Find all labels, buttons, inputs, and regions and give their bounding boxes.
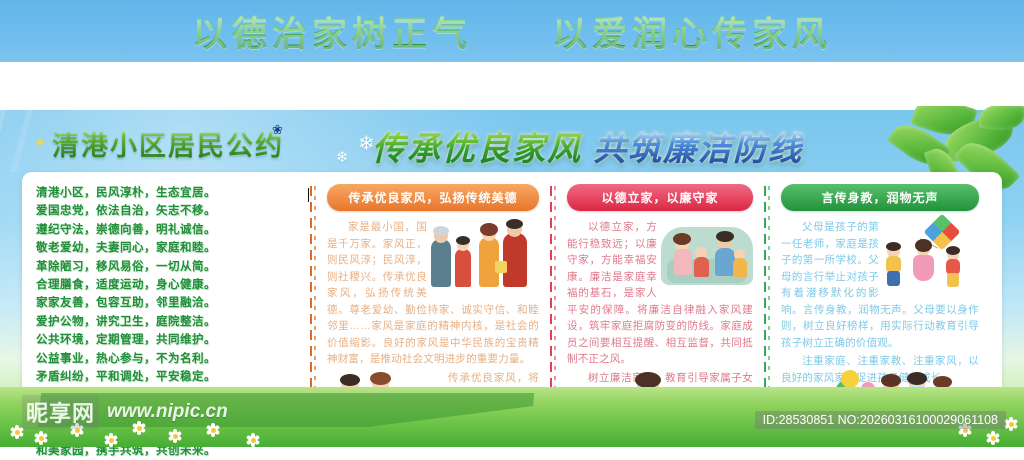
father-figure	[503, 233, 527, 287]
watermark-logo: 昵享网	[22, 395, 99, 429]
daisy-icon	[1004, 417, 1018, 431]
second-child-body	[733, 258, 747, 277]
kite-flying-illustration	[883, 219, 979, 289]
pact-column: 清港小区，民风淳朴，生态宜居。 爱国忠党，依法自治，矢志不移。 遵纪守法，崇德向…	[22, 172, 308, 420]
boy-hair	[886, 242, 901, 251]
family-sofa-illustration	[661, 219, 753, 287]
child-body	[694, 257, 709, 277]
column-divider	[549, 186, 557, 410]
pact-line: 家家友善，包容互助，邻里融洽。	[36, 294, 300, 312]
column-heading-virtue-integrity: 以德立家，以廉守家	[567, 184, 753, 211]
column-family-virtue: 传承优良家风，弘扬传统美德	[317, 172, 549, 420]
leaf-icon	[979, 106, 1024, 132]
pact-line: 矛盾纠纷，平和调处，平安稳定。	[36, 368, 300, 386]
pact-line: 爱国忠党，依法自治，矢志不移。	[36, 202, 300, 220]
column-divider	[309, 186, 317, 410]
mother-body	[674, 249, 692, 275]
boy-legs	[887, 271, 900, 286]
column-heading-family-virtue: 传承优良家风，弘扬传统美德	[327, 184, 539, 211]
pact-line: 公益事业，热心参与，不为名利。	[36, 350, 300, 368]
pact-line: 爱护公物，讲究卫生，庭院整洁。	[36, 313, 300, 331]
column-divider	[763, 186, 771, 410]
grandmother-hair	[433, 226, 449, 236]
daisy-icon	[34, 431, 48, 445]
asset-id-badge: ID:28530851 NO:20260316100029061108	[755, 411, 1006, 429]
mother-sitting-hair	[370, 372, 391, 385]
page-title-main-green: 传承优良家风	[372, 130, 593, 167]
poster-board: 以德治家树正气 以爱润心传家风 ❄ ❄ ✦ 清港小区居民公约 ❀ 传承优良家风 …	[0, 0, 1024, 447]
pact-line: 革除陋习，移风易俗，一切从简。	[36, 258, 300, 276]
family-walking-illustration	[431, 219, 539, 291]
flower-icon	[841, 370, 859, 388]
father-body	[715, 248, 735, 276]
butterfly-icon: ❀	[272, 122, 283, 138]
second-boy-legs	[947, 273, 959, 287]
pact-line: 合理膳食，适度运动，身心健康。	[36, 276, 300, 294]
child-hair	[635, 372, 661, 388]
pact-line: 遵纪守法，崇德向善，明礼诚信。	[36, 221, 300, 239]
pact-line: 公共环境，定期管理，共同维护。	[36, 331, 300, 349]
mother-hair	[673, 233, 691, 245]
content-card: 清港小区，民风淳朴，生态宜居。 爱国忠党，依法自治，矢志不移。 遵纪守法，崇德向…	[22, 172, 1002, 420]
daisy-icon	[168, 429, 182, 443]
father-hair	[506, 219, 523, 229]
basket-icon	[495, 261, 507, 273]
column-heading-teach-by-example: 言传身教，润物无声	[781, 184, 979, 211]
mother-hair	[480, 223, 498, 236]
daisy-icon	[246, 433, 260, 447]
page-title-main: 传承优良家风 共筑廉洁防线	[372, 122, 803, 170]
girl-dress	[913, 255, 934, 281]
sparkle-icon: ✦	[34, 134, 47, 152]
child-hair	[456, 236, 470, 245]
banner-slogan: 以德治家树正气 以爱润心传家风	[192, 6, 832, 57]
girl-hair	[915, 239, 932, 252]
watermark-url: www.nipic.cn	[107, 401, 228, 423]
column-virtue-integrity: 以德立家，以廉守家	[557, 172, 763, 420]
column-body-teach-by-example: 父母是孩子的第一任老师，家庭是孩子的第一所学校。父母的言行举止对孩子有着潜移默化…	[781, 219, 979, 386]
page-title-main-blue: 共筑廉洁防线	[593, 130, 803, 167]
top-banner: 以德治家树正气 以爱润心传家风	[0, 0, 1024, 62]
second-boy-hair	[946, 246, 960, 255]
main-panel: ❄ ❄ ✦ 清港小区居民公约 ❀ 传承优良家风 共筑廉洁防线 清港小区，民风淳朴…	[0, 110, 1024, 447]
column-teach-by-example: 言传身教，润物无声	[771, 172, 989, 420]
page-title-left: 清港小区居民公约	[52, 124, 284, 163]
dove-icon: ❄	[336, 150, 349, 165]
pact-line: 清港小区，民风淳朴，生态宜居。	[36, 184, 300, 202]
banner-gap	[0, 62, 1024, 110]
site-watermark: 昵享网 www.nipic.cn	[22, 395, 228, 429]
father-hair	[716, 231, 734, 242]
daisy-icon	[986, 431, 1000, 445]
second-child-hair	[907, 372, 927, 385]
pact-line: 敬老爱幼，夫妻同心，家庭和睦。	[36, 239, 300, 257]
child-hair	[881, 374, 901, 387]
daisy-icon	[104, 433, 118, 447]
child-figure	[455, 249, 471, 287]
grandmother-figure	[431, 239, 451, 287]
father-sitting-hair	[340, 374, 360, 386]
